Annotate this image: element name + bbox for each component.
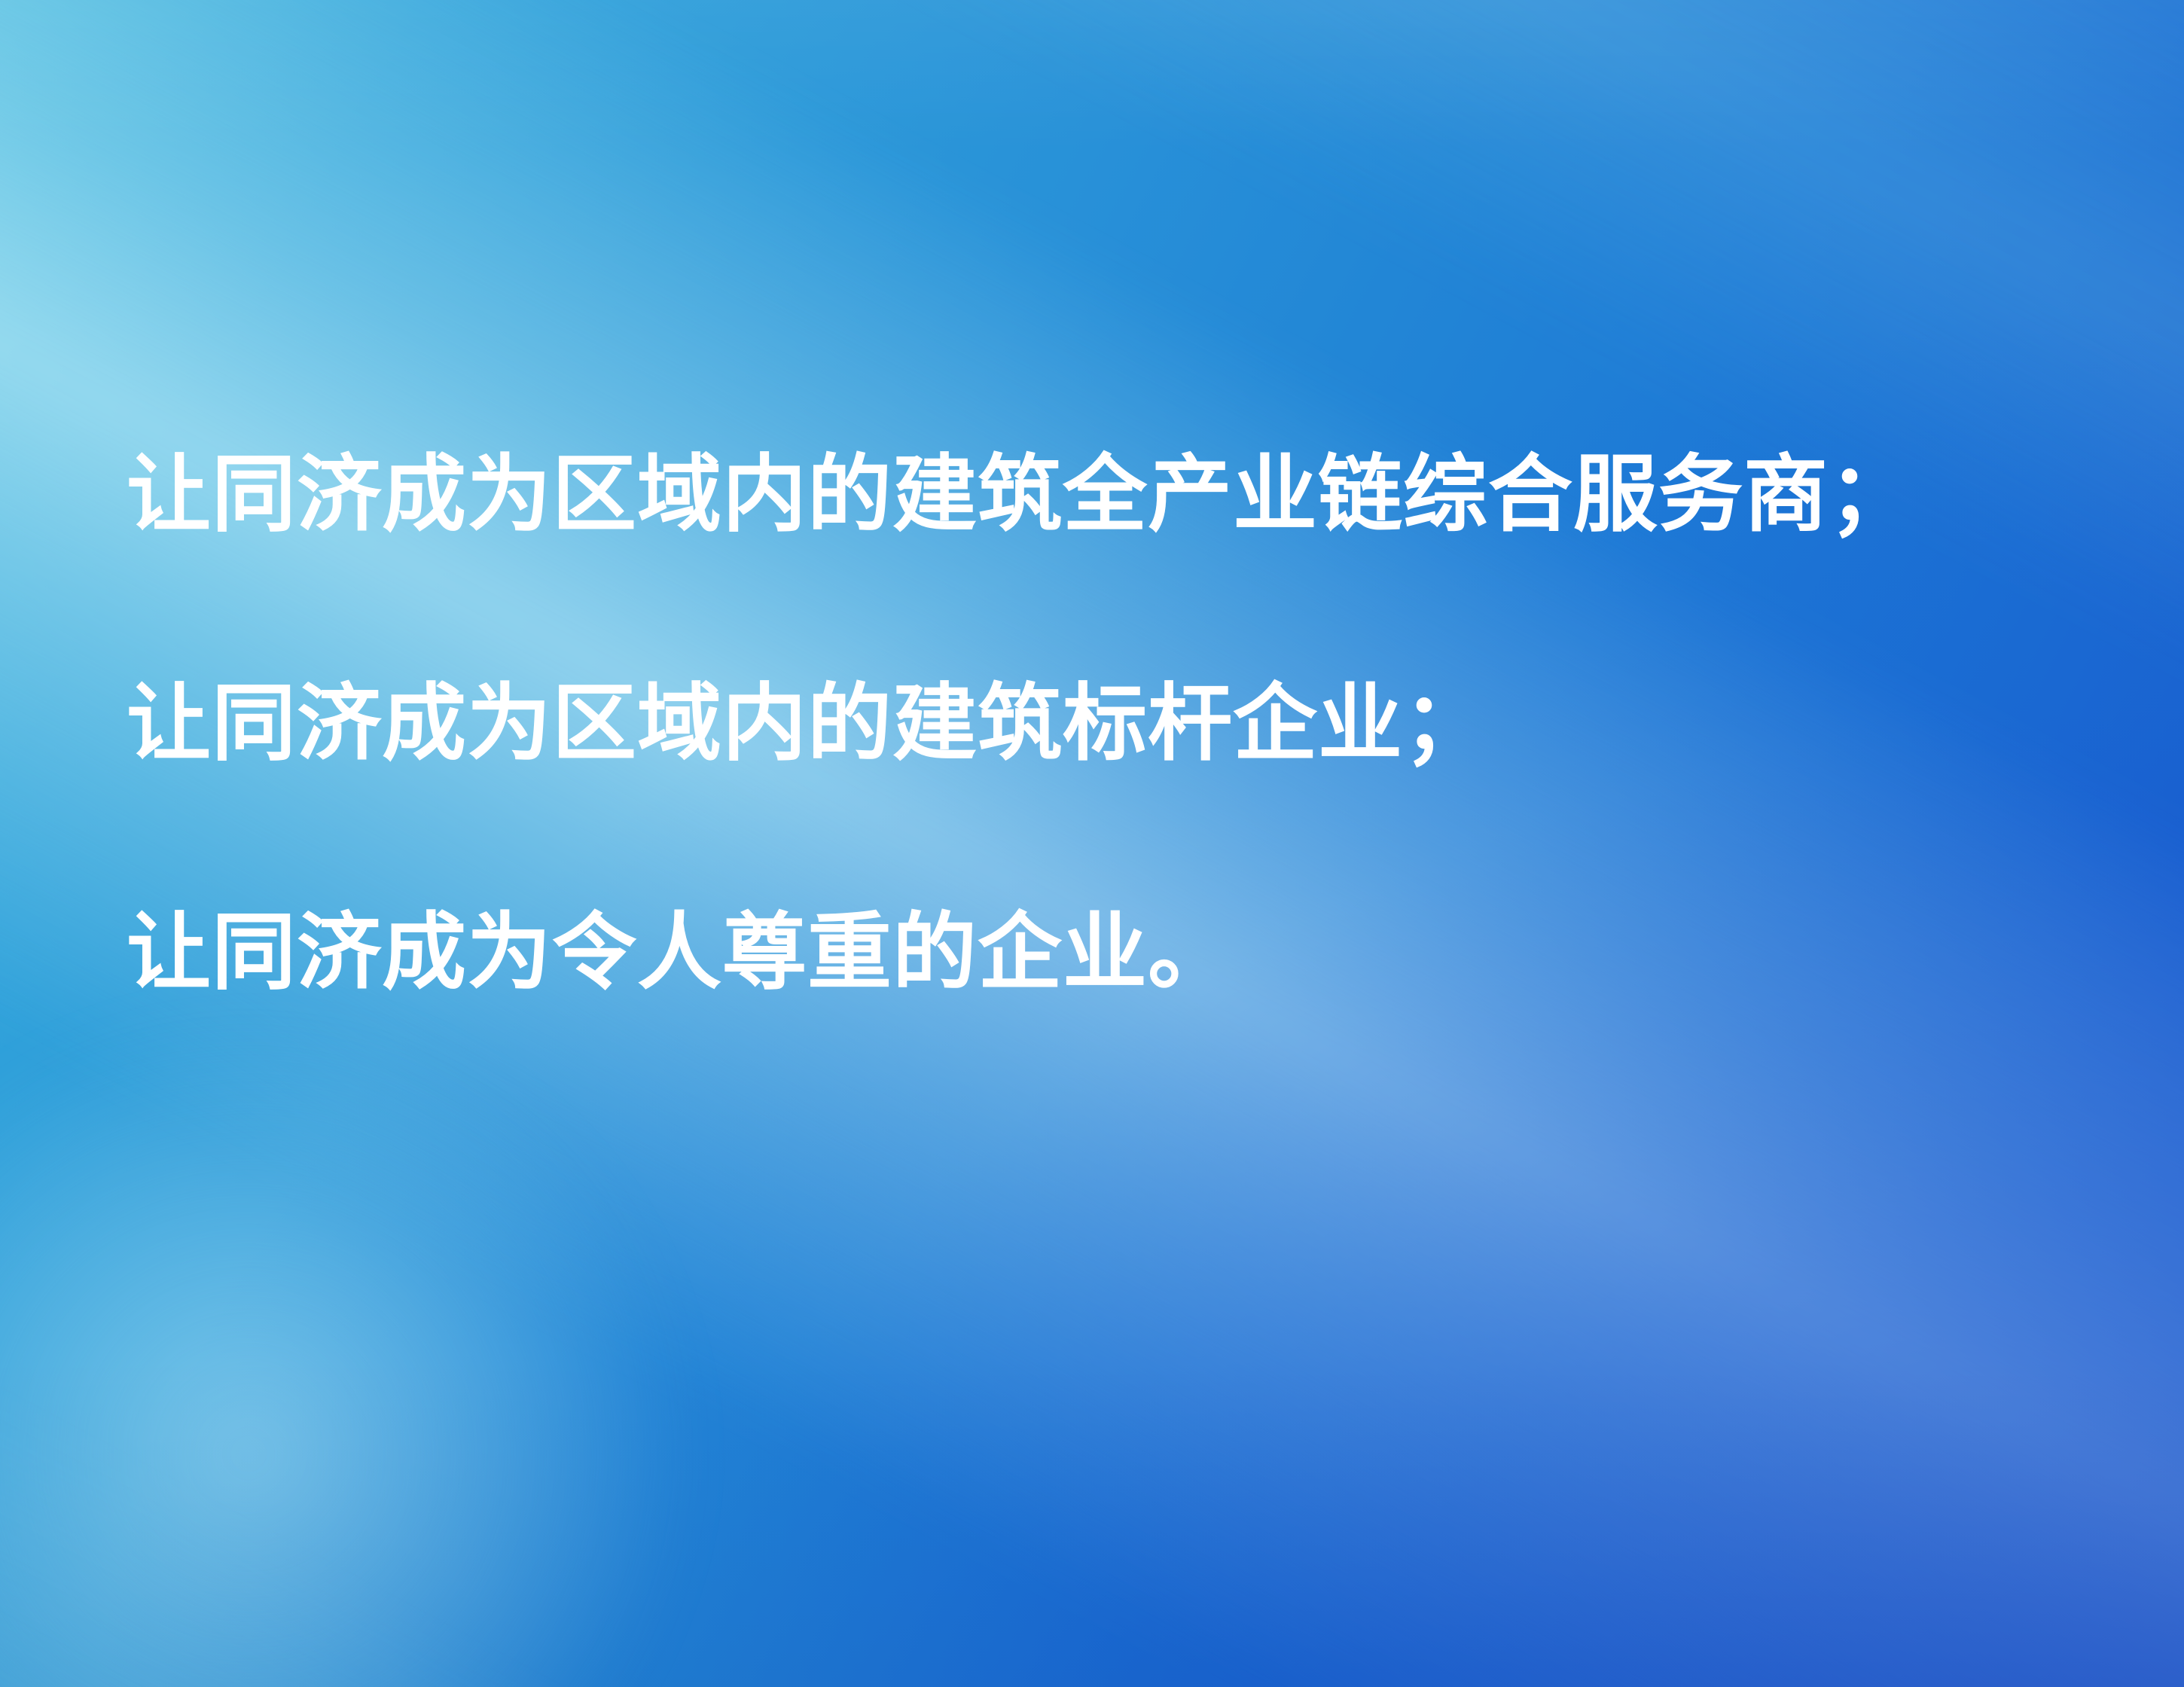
slide-text-block: 让同济成为区域内的建筑全产业链综合服务商； 让同济成为区域内的建筑标杆企业； 让… bbox=[127, 452, 2085, 996]
slide-canvas: 让同济成为区域内的建筑全产业链综合服务商； 让同济成为区域内的建筑标杆企业； 让… bbox=[0, 0, 2184, 1687]
slide-text-line-2: 让同济成为区域内的建筑标杆企业； bbox=[127, 681, 2085, 767]
slide-text-line-1: 让同济成为区域内的建筑全产业链综合服务商； bbox=[127, 452, 2085, 538]
slide-text-line-3: 让同济成为令人尊重的企业。 bbox=[127, 910, 2085, 996]
